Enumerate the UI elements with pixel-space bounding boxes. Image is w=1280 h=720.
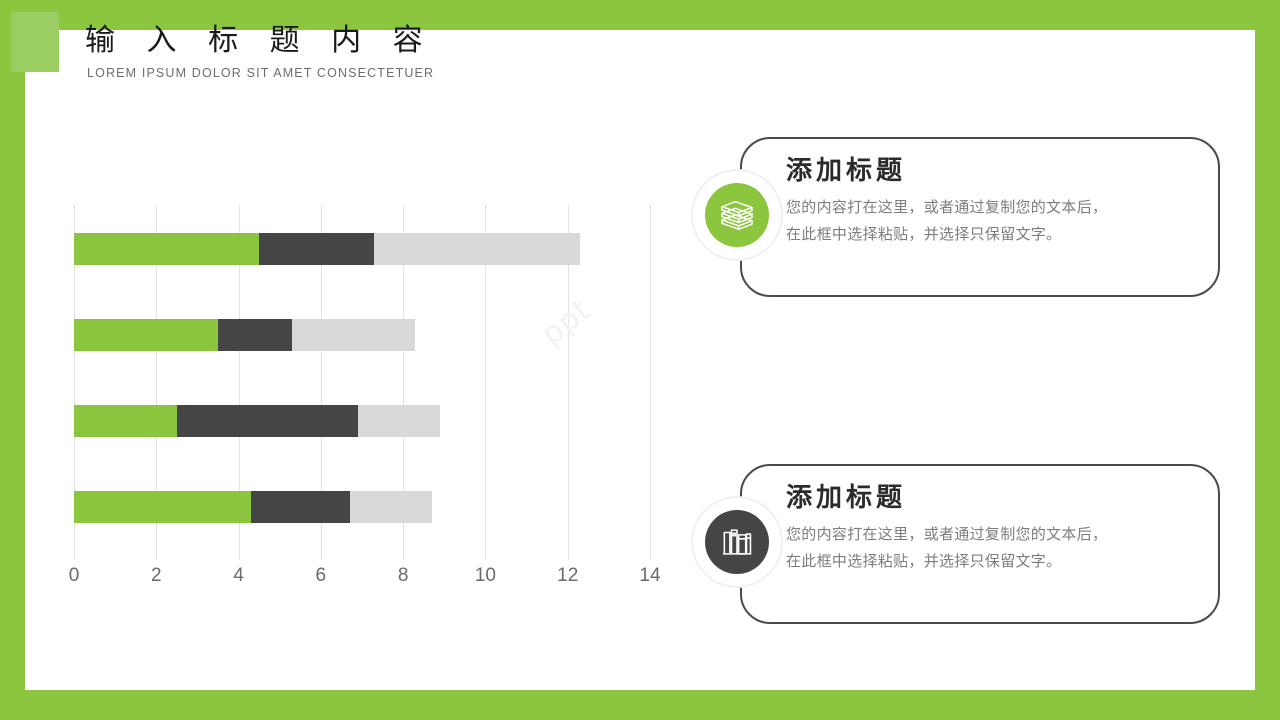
info-card-2-title: 添加标题: [786, 482, 1200, 515]
slide-root: 输 入 标 题 内 容 LOREM IPSUM DOLOR SIT AMET C…: [0, 0, 1280, 720]
x-tick-label: 2: [151, 565, 162, 587]
bookshelf-icon: [705, 510, 769, 574]
info-card-1[interactable]: 添加标题 您的内容打在这里，或者通过复制您的文本后， 在此框中选择粘贴，并选择只…: [740, 137, 1220, 297]
x-tick-label: 8: [398, 565, 409, 587]
bar-segment: [218, 319, 292, 351]
bar-segment: [350, 491, 432, 523]
info-card-2-text: 您的内容打在这里，或者通过复制您的文本后， 在此框中选择粘贴，并选择只保留文字。: [786, 521, 1200, 577]
x-tick-label: 4: [233, 565, 244, 587]
info-card-1-title: 添加标题: [786, 155, 1200, 188]
bar-row: [74, 319, 650, 351]
page-title: 输 入 标 题 内 容: [85, 15, 434, 59]
bar-segment: [251, 491, 350, 523]
bar-segment: [74, 405, 177, 437]
bar-segment: [177, 405, 358, 437]
x-tick-label: 10: [475, 565, 496, 587]
bar-segment: [74, 233, 259, 265]
bar-row: [74, 233, 650, 265]
chart-plot-area: [74, 205, 650, 560]
info-card-1-line-1: 您的内容打在这里，或者通过复制您的文本后，: [786, 194, 1200, 222]
bar-segment: [374, 233, 580, 265]
title-accent-square: [11, 12, 59, 72]
info-card-2-line-1: 您的内容打在这里，或者通过复制您的文本后，: [786, 521, 1200, 549]
info-card-1-icon-badge[interactable]: [699, 177, 775, 253]
x-tick-label: 6: [316, 565, 327, 587]
info-card-1-body: 添加标题 您的内容打在这里，或者通过复制您的文本后， 在此框中选择粘贴，并选择只…: [786, 155, 1200, 249]
x-tick-label: 12: [557, 565, 578, 587]
x-tick-label: 14: [639, 565, 660, 587]
chart-x-axis: 02468101214: [74, 565, 650, 589]
bar-row: [74, 405, 650, 437]
bar-row: [74, 491, 650, 523]
bar-segment: [74, 491, 251, 523]
bar-segment: [358, 405, 440, 437]
info-card-2-icon-badge[interactable]: [699, 504, 775, 580]
gridline-14: [650, 205, 651, 560]
x-tick-label: 0: [69, 565, 80, 587]
bar-segment: [292, 319, 415, 351]
bar-segment: [259, 233, 374, 265]
info-card-1-text: 您的内容打在这里，或者通过复制您的文本后， 在此框中选择粘贴，并选择只保留文字。: [786, 194, 1200, 250]
info-card-2[interactable]: 添加标题 您的内容打在这里，或者通过复制您的文本后， 在此框中选择粘贴，并选择只…: [740, 464, 1220, 624]
bar-segment: [74, 319, 218, 351]
info-card-2-line-2: 在此框中选择粘贴，并选择只保留文字。: [786, 548, 1200, 576]
page-subtitle: LOREM IPSUM DOLOR SIT AMET CONSECTETUER: [87, 66, 434, 80]
info-card-2-body: 添加标题 您的内容打在这里，或者通过复制您的文本后， 在此框中选择粘贴，并选择只…: [786, 482, 1200, 576]
slide-header: 输 入 标 题 内 容 LOREM IPSUM DOLOR SIT AMET C…: [11, 12, 711, 102]
info-card-1-line-2: 在此框中选择粘贴，并选择只保留文字。: [786, 221, 1200, 249]
chart-bars: [74, 205, 650, 560]
stacked-books-icon: [705, 183, 769, 247]
stacked-bar-chart: 02468101214: [40, 175, 660, 575]
